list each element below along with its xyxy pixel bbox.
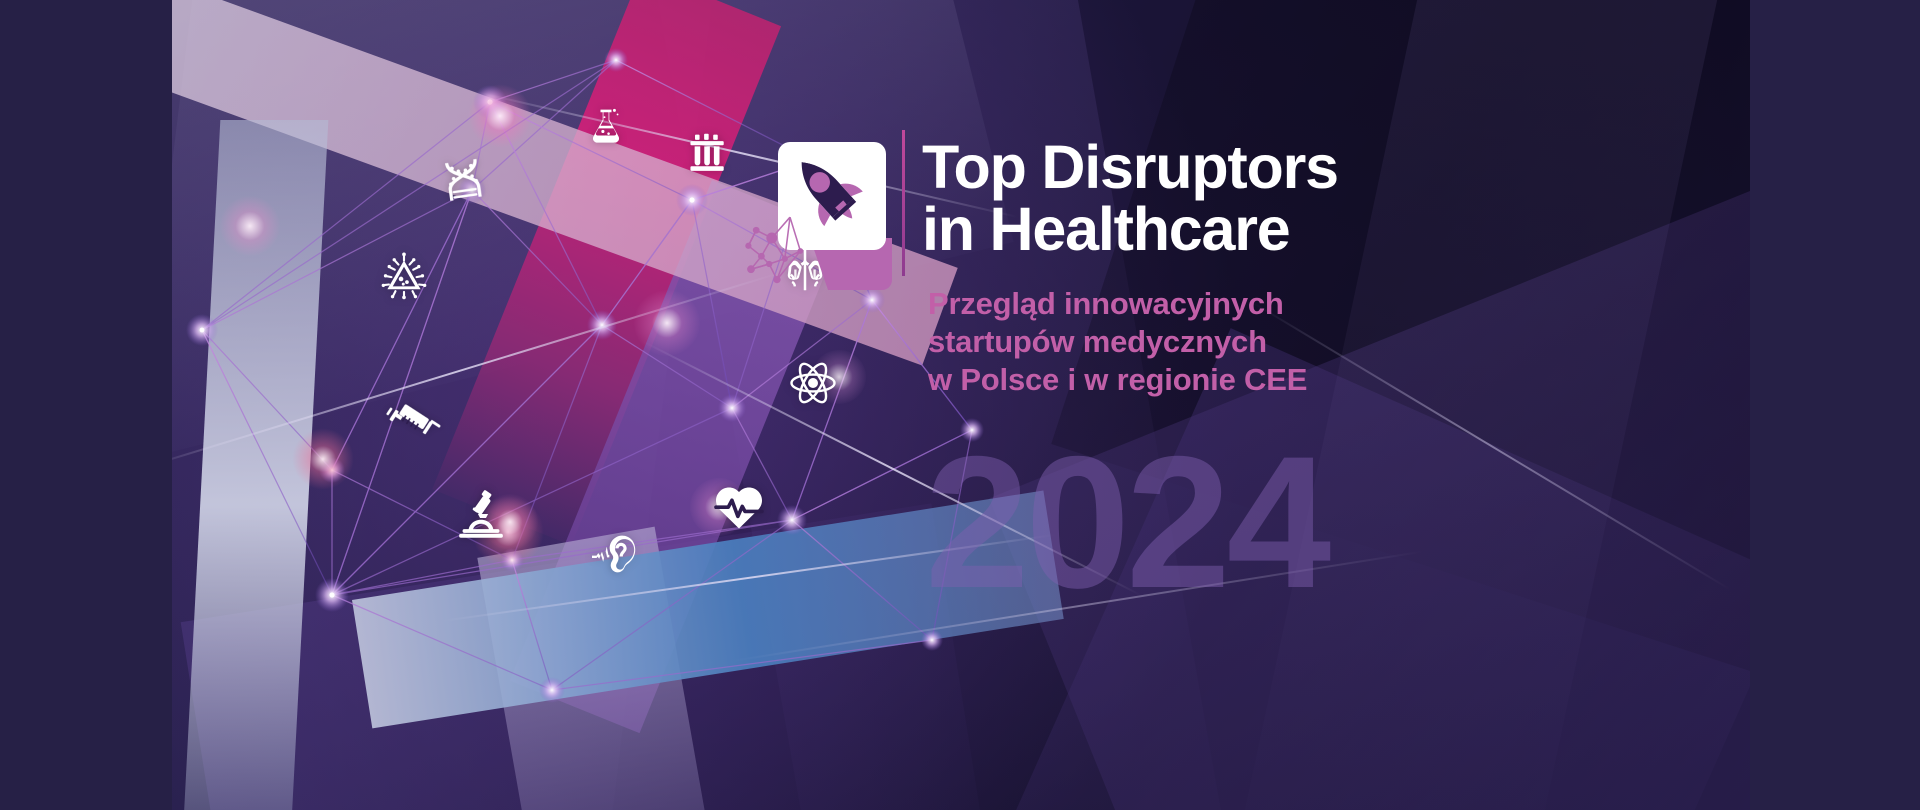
page-title: Top Disruptors in Healthcare xyxy=(922,136,1392,260)
test-tubes-icon xyxy=(686,132,732,174)
dna-icon xyxy=(437,155,493,206)
title-line-1: Top Disruptors xyxy=(922,136,1392,198)
rocket-logo-icon xyxy=(770,142,886,272)
branding-block: Top Disruptors in Healthcare Przegląd in… xyxy=(770,130,1410,450)
flask-icon xyxy=(584,105,628,151)
logo-network-icon xyxy=(738,212,816,290)
virus-icon xyxy=(380,252,428,300)
subtitle-line-2: startupów medycznych xyxy=(928,323,1398,361)
subtitle-line-1: Przegląd innowacyjnych xyxy=(928,285,1398,323)
title-divider xyxy=(902,130,905,276)
subtitle-line-3: w Polsce i w regionie CEE xyxy=(928,361,1398,399)
heart-pulse-icon xyxy=(714,484,764,530)
microscope-icon xyxy=(456,490,506,538)
title-line-2: in Healthcare xyxy=(922,198,1392,260)
year-label: 2024 xyxy=(925,428,1327,616)
cover-poster: Top Disruptors in Healthcare Przegląd in… xyxy=(0,0,1920,810)
ear-wave-icon xyxy=(592,534,648,574)
page-subtitle: Przegląd innowacyjnych startupów medyczn… xyxy=(928,285,1398,398)
